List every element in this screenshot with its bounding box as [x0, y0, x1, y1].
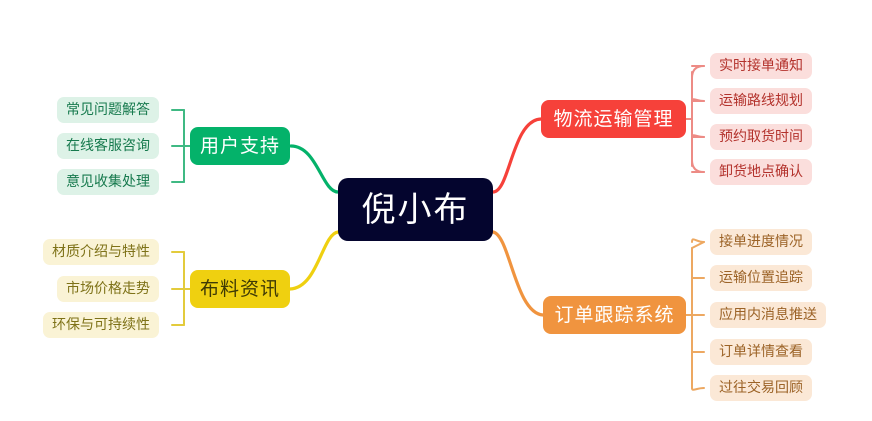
- connector-root-fabric-info: [290, 232, 338, 289]
- leaf-node-order-tracking-1[interactable]: 接单进度情况: [710, 229, 812, 255]
- leaf-node-fabric-info-3[interactable]: 环保与可持续性: [43, 312, 159, 338]
- connector-root-order-tracking: [493, 232, 543, 315]
- leaf-node-order-tracking-5[interactable]: 过往交易回顾: [710, 375, 812, 401]
- connector-group-logistics: [686, 66, 704, 172]
- branch-node-fabric-info[interactable]: 布料资讯: [190, 270, 290, 308]
- leaf-node-logistics-1[interactable]: 实时接单通知: [710, 53, 812, 79]
- leaf-node-fabric-info-1[interactable]: 材质介绍与特性: [43, 239, 159, 265]
- branch-node-logistics[interactable]: 物流运输管理: [541, 100, 686, 138]
- branch-node-user-support[interactable]: 用户支持: [190, 127, 290, 165]
- leaf-node-user-support-1[interactable]: 常见问题解答: [57, 97, 159, 123]
- leaf-node-fabric-info-2[interactable]: 市场价格走势: [57, 276, 159, 302]
- branch-node-order-tracking[interactable]: 订单跟踪系统: [543, 296, 686, 334]
- mindmap-canvas: 倪小布 物流运输管理 实时接单通知 运输路线规划 预约取货时间 卸货地点确认 订…: [0, 0, 872, 421]
- connector-stubs-logistics: [692, 66, 704, 172]
- leaf-node-logistics-2[interactable]: 运输路线规划: [710, 88, 812, 114]
- leaf-node-logistics-3[interactable]: 预约取货时间: [710, 124, 812, 150]
- leaf-node-logistics-4[interactable]: 卸货地点确认: [710, 159, 812, 185]
- leaf-node-user-support-2[interactable]: 在线客服咨询: [57, 133, 159, 159]
- leaf-node-order-tracking-4[interactable]: 订单详情查看: [710, 339, 812, 365]
- leaf-node-user-support-3[interactable]: 意见收集处理: [57, 169, 159, 195]
- connector-group-order-tracking: [686, 239, 704, 389]
- connector-root-logistics: [493, 119, 541, 192]
- leaf-node-order-tracking-2[interactable]: 运输位置追踪: [710, 265, 812, 291]
- connector-root-user-support: [291, 146, 338, 192]
- root-node[interactable]: 倪小布: [338, 178, 493, 241]
- leaf-node-order-tracking-3[interactable]: 应用内消息推送: [710, 302, 826, 328]
